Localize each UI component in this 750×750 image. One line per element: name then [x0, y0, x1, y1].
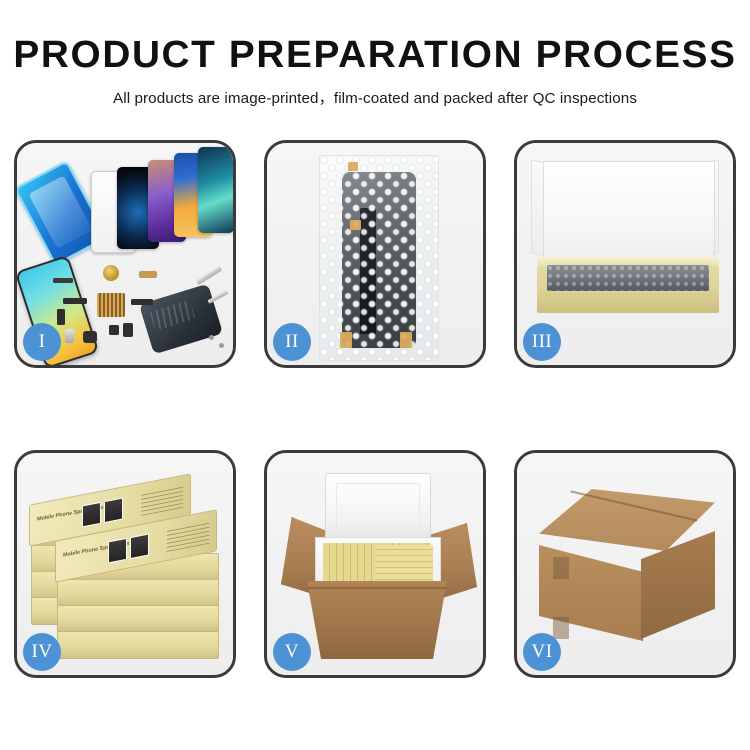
- phone-back-housing: [139, 284, 223, 355]
- process-step-grid: I II III: [14, 140, 736, 678]
- carton-edge: [307, 587, 447, 589]
- connector-part: [53, 278, 73, 283]
- box-label-lines: [167, 520, 209, 552]
- step-badge-5: V: [273, 633, 311, 671]
- box-label-image: [82, 502, 101, 528]
- step-badge-1: I: [23, 323, 61, 361]
- foam-lid: [325, 473, 431, 543]
- tape-piece: [400, 332, 412, 348]
- page-title: PRODUCT PREPARATION PROCESS: [0, 36, 750, 76]
- flex-cable-part: [139, 271, 157, 278]
- step-panel-5: V: [264, 450, 486, 678]
- bubble-wrap-bag: [319, 155, 439, 361]
- step-panel-2: II: [264, 140, 486, 368]
- wrapped-items-in-box: [547, 265, 709, 291]
- button-part: [109, 325, 119, 335]
- step-badge-6: VI: [523, 633, 561, 671]
- carton-tab: [553, 557, 569, 579]
- sim-tray-part: [65, 329, 74, 343]
- box-label-image: [130, 533, 149, 559]
- stacked-box: [57, 579, 219, 607]
- screw-part: [209, 335, 214, 340]
- box-label-image: [104, 497, 123, 523]
- step-panel-4: Mobile Phone Spare Parts Mobile Phone Sp…: [14, 450, 236, 678]
- step-panel-6: VI: [514, 450, 736, 678]
- vibrator-part: [123, 323, 133, 337]
- tape-piece: [340, 332, 352, 348]
- page-header: PRODUCT PREPARATION PROCESS All products…: [0, 0, 750, 108]
- carton-body: [307, 581, 447, 659]
- screw-part: [219, 343, 224, 348]
- page-subtitle: All products are image-printed，film-coat…: [0, 86, 750, 108]
- tape-piece: [350, 220, 361, 230]
- bubble-texture: [320, 156, 438, 360]
- screwdriver-tool: [196, 266, 222, 285]
- box-label-lines: [141, 484, 183, 516]
- camera-module-part: [83, 331, 97, 343]
- step-badge-4: IV: [23, 633, 61, 671]
- tape-piece: [348, 162, 358, 171]
- step-badge-2: II: [273, 323, 311, 361]
- box-foam-lid: [543, 161, 715, 271]
- stacked-box: [57, 631, 219, 659]
- stacked-box: [57, 605, 219, 633]
- boxes-inside-carton: [375, 545, 433, 585]
- bracket-part: [57, 309, 65, 325]
- logic-board-part: [97, 293, 125, 317]
- box-label-image: [108, 538, 127, 564]
- step-badge-3: III: [523, 323, 561, 361]
- carton-tab: [553, 617, 569, 639]
- speaker-component: [103, 265, 119, 281]
- step-panel-3: III: [514, 140, 736, 368]
- ribbon-cable-part: [63, 298, 87, 304]
- phone-screen-teal: [198, 147, 234, 233]
- step-panel-1: I: [14, 140, 236, 368]
- antenna-cable-part: [131, 299, 153, 305]
